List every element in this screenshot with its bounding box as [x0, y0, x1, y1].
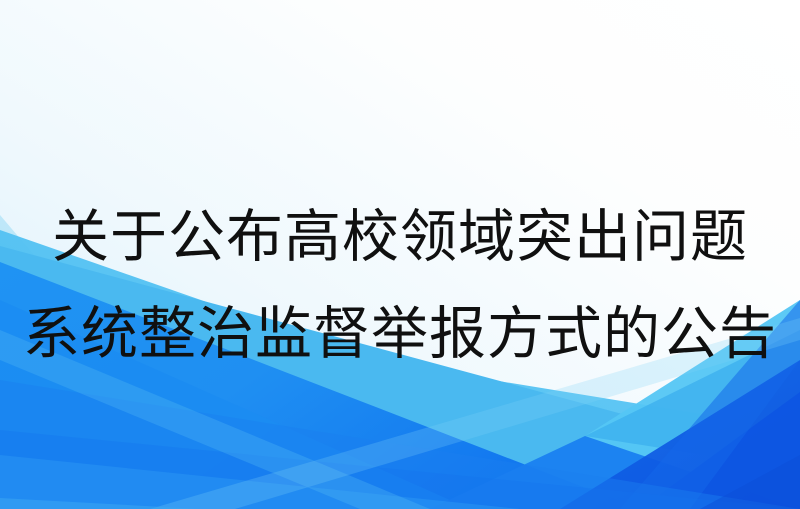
title-line-2: 系统整治监督举报方式的公告 [23, 305, 777, 363]
title-line-1: 关于公布高校领域突出问题 [52, 208, 748, 266]
slide-canvas: 关于公布高校领域突出问题 系统整治监督举报方式的公告 [0, 0, 800, 509]
slide-title-block: 关于公布高校领域突出问题 系统整治监督举报方式的公告 [0, 0, 800, 509]
